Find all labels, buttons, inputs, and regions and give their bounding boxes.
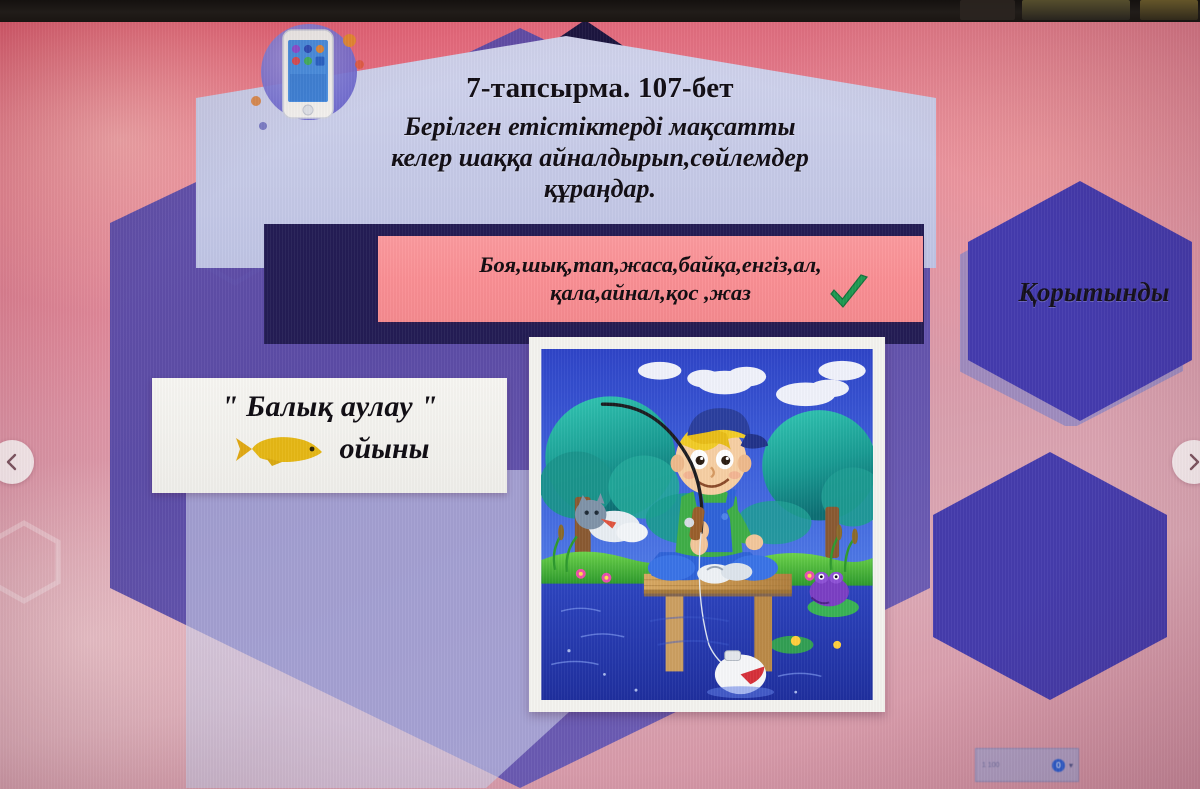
- chevron-down-icon[interactable]: ▾: [1069, 761, 1073, 770]
- verb-list-box: Боя,шық,тап,жаса,байқа,енгіз,ал, қала,ай…: [378, 236, 923, 322]
- verb-list-text: Боя,шық,тап,жаса,байқа,енгіз,ал, қала,ай…: [469, 251, 832, 307]
- chevron-right-icon: [1185, 453, 1200, 471]
- corner-widget[interactable]: 1 100 0 ▾: [975, 748, 1079, 782]
- game-title: " Балық аулау ": [152, 390, 507, 424]
- smartphone-icon: [281, 28, 335, 120]
- game-label-box: " Балық аулау " ойыны: [152, 378, 507, 493]
- instruction-line-1: Берілген етістіктерді мақсатты: [300, 111, 900, 142]
- decor-dot-navy: [259, 122, 267, 130]
- yellow-fish-icon: [230, 428, 326, 470]
- bezel-object-2: [1022, 0, 1130, 20]
- game-subtitle: ойыны: [340, 432, 430, 466]
- corner-widget-text: 1 100: [982, 762, 1000, 769]
- fishing-illustration-frame: [529, 337, 885, 712]
- boy-fishing-on-dock-illustration: [541, 349, 873, 700]
- task-title: 7-тапсырма. 107-бет: [300, 72, 900, 105]
- corner-widget-badge: 0: [1052, 759, 1065, 772]
- decor-dot-orange-1: [343, 34, 356, 47]
- conclusion-label: Қорытынды: [1019, 277, 1170, 308]
- decor-hexagon-outline-left-lower: [0, 520, 62, 604]
- monitor-bezel: [0, 0, 1200, 22]
- chevron-left-icon: [3, 453, 21, 471]
- bezel-object-1: [960, 0, 1015, 20]
- bezel-object-3: [1140, 0, 1198, 20]
- green-check-icon: [827, 274, 871, 314]
- title-block: 7-тапсырма. 107-бет Берілген етістіктерд…: [300, 72, 900, 205]
- secondary-hexagon[interactable]: [925, 447, 1175, 705]
- verb-line-1: Боя,шық,тап,жаса,байқа,енгіз,ал,: [479, 251, 822, 279]
- decor-dot-orange-2: [355, 60, 364, 69]
- conclusion-label-wrap: Қорытынды: [960, 272, 1200, 312]
- phone-badge: [255, 18, 363, 126]
- slide-photo-stage: Қорытынды 7-тапсырма. 107-бет Берілген е…: [0, 0, 1200, 789]
- instruction-line-3: құраңдар.: [300, 173, 900, 204]
- instruction-line-2: келер шаққа айналдырып,сөйлемдер: [300, 142, 900, 173]
- decor-dot-orange-3: [251, 96, 261, 106]
- verb-line-2: қала,айнал,қос ,жаз: [479, 279, 822, 307]
